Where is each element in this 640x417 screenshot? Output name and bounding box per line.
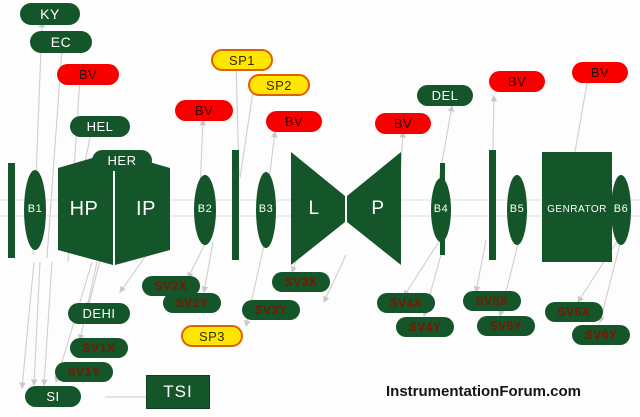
- bearing-b6-shape: [611, 175, 631, 245]
- watermark-text: InstrumentationForum.com: [386, 383, 581, 400]
- sv5x-pill[interactable]: SV5X: [463, 291, 521, 311]
- sv5y-pill[interactable]: SV5Y: [477, 316, 535, 336]
- sv6y-pill[interactable]: SV6Y: [572, 325, 630, 345]
- her-pill[interactable]: HER: [92, 150, 152, 171]
- del-pill[interactable]: DEL: [417, 85, 473, 106]
- bearing-b3-shape: [256, 172, 276, 248]
- sv4y-pill[interactable]: SV4Y: [396, 317, 454, 337]
- bv-pill-6[interactable]: BV: [572, 62, 628, 83]
- bv-pill-2[interactable]: BV: [175, 100, 233, 121]
- ky-pill[interactable]: KY: [20, 3, 80, 25]
- boundary-bar-b4b5: [489, 150, 496, 260]
- bv-pill-5[interactable]: BV: [489, 71, 545, 92]
- boundary-bar-b2b3: [232, 150, 239, 260]
- bearing-b5-shape: [507, 175, 527, 245]
- bv-pill-3[interactable]: BV: [266, 111, 322, 132]
- sp1-pill[interactable]: SP1: [211, 49, 273, 71]
- bv-pill-4[interactable]: BV: [375, 113, 431, 134]
- bv-pill-1[interactable]: BV: [57, 64, 119, 85]
- sp2-pill[interactable]: SP2: [248, 74, 310, 96]
- sv1y-pill[interactable]: SV1Y: [55, 362, 113, 382]
- sv1x-pill[interactable]: SV1X: [70, 338, 128, 358]
- bearing-b2-shape: [194, 175, 216, 245]
- ec-pill[interactable]: EC: [30, 31, 92, 53]
- sv2y-pill[interactable]: SV2Y: [163, 293, 221, 313]
- boundary-bar-left: [8, 163, 15, 258]
- generator-shape: [542, 152, 612, 262]
- sp3-pill[interactable]: SP3: [181, 325, 243, 347]
- l-turbine-shape: [291, 152, 345, 265]
- si-pill[interactable]: SI: [25, 386, 81, 407]
- sv3x-pill[interactable]: SV3X: [272, 272, 330, 292]
- hel-pill[interactable]: HEL: [70, 116, 130, 137]
- dehi-pill[interactable]: DEHI: [68, 303, 130, 324]
- p-turbine-shape: [347, 152, 401, 265]
- sv4x-pill[interactable]: SV4X: [377, 293, 435, 313]
- sv6x-pill[interactable]: SV6X: [545, 302, 603, 322]
- tsi-box[interactable]: TSI: [146, 375, 210, 409]
- bearing-b1-shape: [24, 170, 46, 250]
- sv3y-pill[interactable]: SV3Y: [242, 300, 300, 320]
- diagram-canvas: HP IP L P GENRATOR B1 B2 B3 B4 B5 B6 KY …: [0, 0, 640, 417]
- bearing-b4-shape: [431, 178, 451, 242]
